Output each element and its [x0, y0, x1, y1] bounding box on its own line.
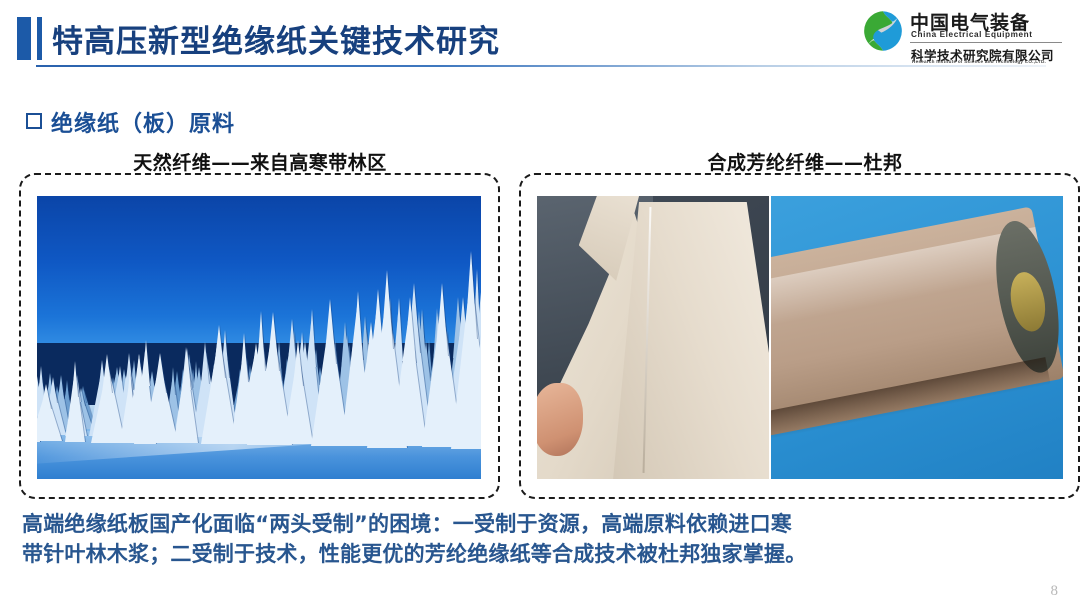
aramid-sheet-photo	[537, 196, 769, 479]
summary-line-2: 带针叶林木浆；二受制于技术，性能更优的芳纶绝缘纸等合成技术被杜邦独家掌握。	[22, 539, 1062, 569]
slide-header: 特高压新型绝缘纸关键技术研究 中国电气装备 China Electrical E…	[0, 0, 1080, 78]
conifer-tree-spire	[436, 283, 448, 356]
title-accent-bar-thin	[37, 17, 42, 60]
logo-divider	[910, 42, 1062, 43]
conifer-tree-spire	[324, 299, 336, 364]
company-logo: 中国电气装备 China Electrical Equipment 科学技术研究…	[862, 6, 1062, 68]
swirl-logo-icon	[862, 10, 904, 52]
summary-line-1: 高端绝缘纸板国产化面临“两头受制”的困境：一受制于资源，高端原料依赖进口寒	[22, 509, 1062, 539]
conifer-tree	[473, 298, 481, 447]
conifer-tree-spire	[404, 297, 416, 363]
conifer-tree-spire	[267, 312, 279, 371]
conifer-tree-spire	[293, 340, 303, 386]
summary-paragraph: 高端绝缘纸板国产化面临“两头受制”的困境：一受制于资源，高端原料依赖进口寒 带针…	[22, 509, 1062, 569]
title-accent-bar-thick	[17, 17, 31, 60]
conifer-tree-spire	[102, 354, 112, 393]
section-heading-label: 绝缘纸（板）原料	[51, 112, 235, 137]
conifer-tree-spire	[72, 361, 78, 397]
conifer-tree-band	[37, 196, 481, 479]
page-title: 特高压新型绝缘纸关键技术研究	[52, 16, 500, 61]
snow-forest-photo	[37, 196, 481, 479]
conifer-tree-spire	[154, 353, 166, 393]
hollow-square-bullet-icon	[26, 113, 42, 129]
logo-institute-name-en: Research Institute of Science and Techno…	[912, 59, 1046, 64]
conifer-tree-spire	[41, 384, 51, 409]
conifer-tree-spire	[183, 348, 191, 390]
conifer-tree-spire	[213, 325, 225, 378]
page-number: 8	[1051, 583, 1059, 600]
slide-root: 特高压新型绝缘纸关键技术研究 中国电气装备 China Electrical E…	[0, 0, 1080, 608]
aramid-roll-photo	[771, 196, 1063, 479]
logo-company-name-en: China Electrical Equipment	[911, 30, 1033, 39]
panel-caption-aramid-fiber: 合成芳纶纤维——杜邦	[520, 148, 1080, 175]
panel-caption-natural-fiber: 天然纤维——来自高寒带林区	[20, 148, 500, 175]
section-heading: 绝缘纸（板）原料	[26, 106, 235, 138]
